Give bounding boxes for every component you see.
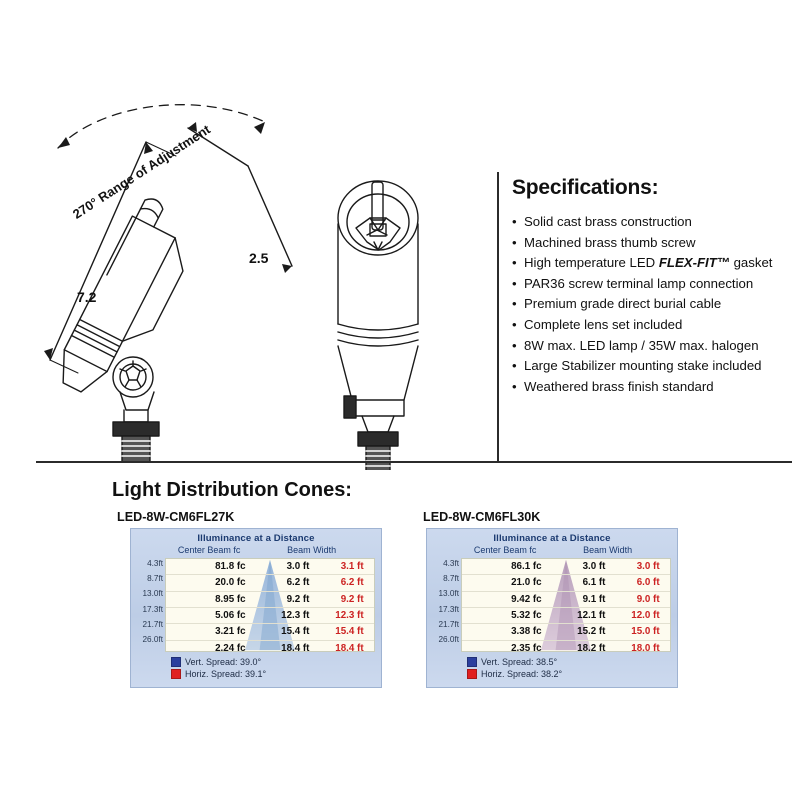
product-drawings: 270° Range of Adjustment 7.2 2.5: [0, 70, 500, 470]
light-distribution-cones-title: Light Distribution Cones:: [112, 479, 352, 502]
cell-center-beam: 86.1 fc: [462, 561, 550, 572]
cell-beam-width-vert: 6.1 ft: [550, 577, 610, 588]
flex-fit-trademark: FLEX-FIT™: [659, 255, 730, 270]
spec-item: PAR36 screw terminal lamp connection: [512, 274, 798, 295]
dimension-width-label: 2.5: [249, 250, 268, 266]
cell-beam-width-horiz: 12.3 ft: [314, 610, 374, 621]
distance-label: 21.7ft: [439, 620, 460, 629]
distance-axis-labels: 4.3ft 8.7ft 13.0ft 17.3ft 21.7ft 26.0ft: [427, 529, 461, 687]
cell-center-beam: 2.24 fc: [166, 643, 254, 652]
model-label-left: LED-8W-CM6FL27K: [117, 510, 234, 524]
cell-beam-width-horiz: 6.2 ft: [314, 577, 374, 588]
model-label-right: LED-8W-CM6FL30K: [423, 510, 540, 524]
distance-label: 17.3ft: [143, 605, 164, 614]
table-row: 3.21 fc 15.4 ft 15.4 ft: [166, 624, 374, 640]
distance-label: 26.0ft: [439, 635, 460, 644]
table-row: 2.24 fc 18.4 ft 18.4 ft: [166, 641, 374, 652]
distance-label: 8.7ft: [147, 574, 163, 583]
cell-beam-width-vert: 6.2 ft: [254, 577, 314, 588]
cell-center-beam: 2.35 fc: [462, 643, 550, 652]
table-legend: Vert. Spread: 38.5° Horiz. Spread: 38.2°: [467, 656, 677, 680]
cell-center-beam: 9.42 fc: [462, 594, 550, 605]
horizontal-divider: [36, 461, 792, 463]
spec-item: Weathered brass finish standard: [512, 377, 798, 398]
range-of-adjustment-label: 270° Range of Adjustment: [74, 174, 274, 234]
cell-beam-width-horiz: 3.0 ft: [610, 561, 670, 572]
fixture-line-drawings: [0, 70, 500, 470]
cell-beam-width-vert: 3.0 ft: [550, 561, 610, 572]
table-row: 5.06 fc 12.3 ft 12.3 ft: [166, 608, 374, 624]
distance-label: 4.3ft: [443, 559, 459, 568]
cell-beam-width-horiz: 15.0 ft: [610, 626, 670, 637]
distance-label: 17.3ft: [439, 605, 460, 614]
dimension-length-label: 7.2: [77, 289, 96, 305]
cell-center-beam: 20.0 fc: [166, 577, 254, 588]
cell-beam-width-vert: 9.1 ft: [550, 594, 610, 605]
spec-item: Premium grade direct burial cable: [512, 294, 798, 315]
table-row: 2.35 fc 18.2 ft 18.0 ft: [462, 641, 670, 652]
cell-beam-width-horiz: 18.0 ft: [610, 643, 670, 652]
specifications-panel: Specifications: Solid cast brass constru…: [512, 176, 798, 397]
spec-sheet-page: 270° Range of Adjustment 7.2 2.5 Specifi…: [0, 0, 800, 800]
table-row: 3.38 fc 15.2 ft 15.0 ft: [462, 624, 670, 640]
table-subheaders: Center Beam fc Beam Width: [131, 544, 381, 558]
cell-beam-width-horiz: 12.0 ft: [610, 610, 670, 621]
horiz-spread-swatch-icon: [467, 669, 477, 679]
cell-center-beam: 81.8 fc: [166, 561, 254, 572]
cell-center-beam: 5.32 fc: [462, 610, 550, 621]
table-body: 86.1 fc 3.0 ft 3.0 ft 21.0 fc 6.1 ft 6.0…: [461, 558, 671, 652]
cell-beam-width-horiz: 9.0 ft: [610, 594, 670, 605]
legend-vert: Vert. Spread: 39.0°: [171, 656, 381, 668]
horiz-spread-swatch-icon: [171, 669, 181, 679]
table-row: 20.0 fc 6.2 ft 6.2 ft: [166, 575, 374, 591]
cell-center-beam: 3.21 fc: [166, 626, 254, 637]
vertical-divider: [497, 172, 499, 462]
legend-horiz-text: Horiz. Spread: 39.1°: [185, 668, 266, 680]
spec-item: Large Stabilizer mounting stake included: [512, 356, 798, 377]
table-row: 5.32 fc 12.1 ft 12.0 ft: [462, 608, 670, 624]
photometric-table-30k: Illuminance at a Distance Center Beam fc…: [426, 528, 678, 688]
photometric-table-27k: Illuminance at a Distance Center Beam fc…: [130, 528, 382, 688]
cell-beam-width-vert: 3.0 ft: [254, 561, 314, 572]
table-row: 86.1 fc 3.0 ft 3.0 ft: [462, 559, 670, 575]
spec-item: 8W max. LED lamp / 35W max. halogen: [512, 336, 798, 357]
distance-label: 13.0ft: [439, 589, 460, 598]
distance-label: 13.0ft: [143, 589, 164, 598]
cell-beam-width-vert: 15.2 ft: [550, 626, 610, 637]
cell-beam-width-vert: 12.3 ft: [254, 610, 314, 621]
vert-spread-swatch-icon: [171, 657, 181, 667]
table-title: Illuminance at a Distance: [427, 529, 677, 544]
cell-center-beam: 21.0 fc: [462, 577, 550, 588]
spec-item: Machined brass thumb screw: [512, 233, 798, 254]
cell-center-beam: 5.06 fc: [166, 610, 254, 621]
distance-label: 21.7ft: [143, 620, 164, 629]
table-title: Illuminance at a Distance: [131, 529, 381, 544]
legend-vert: Vert. Spread: 38.5°: [467, 656, 677, 668]
legend-vert-text: Vert. Spread: 38.5°: [481, 656, 557, 668]
spec-item: Solid cast brass construction: [512, 212, 798, 233]
legend-horiz: Horiz. Spread: 39.1°: [171, 668, 381, 680]
table-subheaders: Center Beam fc Beam Width: [427, 544, 677, 558]
table-row: 21.0 fc 6.1 ft 6.0 ft: [462, 575, 670, 591]
distance-label: 8.7ft: [443, 574, 459, 583]
distance-label: 26.0ft: [143, 635, 164, 644]
table-row: 8.95 fc 9.2 ft 9.2 ft: [166, 592, 374, 608]
vert-spread-swatch-icon: [467, 657, 477, 667]
cell-beam-width-vert: 18.4 ft: [254, 643, 314, 652]
cell-center-beam: 8.95 fc: [166, 594, 254, 605]
cell-beam-width-vert: 12.1 ft: [550, 610, 610, 621]
spec-item: Complete lens set included: [512, 315, 798, 336]
legend-horiz: Horiz. Spread: 38.2°: [467, 668, 677, 680]
cell-beam-width-horiz: 3.1 ft: [314, 561, 374, 572]
distance-axis-labels: 4.3ft 8.7ft 13.0ft 17.3ft 21.7ft 26.0ft: [131, 529, 165, 687]
cell-beam-width-horiz: 6.0 ft: [610, 577, 670, 588]
table-legend: Vert. Spread: 39.0° Horiz. Spread: 39.1°: [171, 656, 381, 680]
spec-item-flex-fit: High temperature LED FLEX-FIT™ gasket: [512, 253, 798, 274]
legend-vert-text: Vert. Spread: 39.0°: [185, 656, 261, 668]
table-row: 9.42 fc 9.1 ft 9.0 ft: [462, 592, 670, 608]
table-body: 81.8 fc 3.0 ft 3.1 ft 20.0 fc 6.2 ft 6.2…: [165, 558, 375, 652]
cell-beam-width-vert: 15.4 ft: [254, 626, 314, 637]
cell-beam-width-horiz: 9.2 ft: [314, 594, 374, 605]
column-header-beam-width: Beam Width: [553, 545, 677, 555]
distance-label: 4.3ft: [147, 559, 163, 568]
cell-beam-width-horiz: 15.4 ft: [314, 626, 374, 637]
table-row: 81.8 fc 3.0 ft 3.1 ft: [166, 559, 374, 575]
column-header-beam-width: Beam Width: [257, 545, 381, 555]
cell-beam-width-vert: 9.2 ft: [254, 594, 314, 605]
legend-horiz-text: Horiz. Spread: 38.2°: [481, 668, 562, 680]
specifications-list: Solid cast brass construction Machined b…: [512, 212, 798, 397]
cell-beam-width-vert: 18.2 ft: [550, 643, 610, 652]
specifications-title: Specifications:: [512, 176, 798, 200]
cell-center-beam: 3.38 fc: [462, 626, 550, 637]
cell-beam-width-horiz: 18.4 ft: [314, 643, 374, 652]
